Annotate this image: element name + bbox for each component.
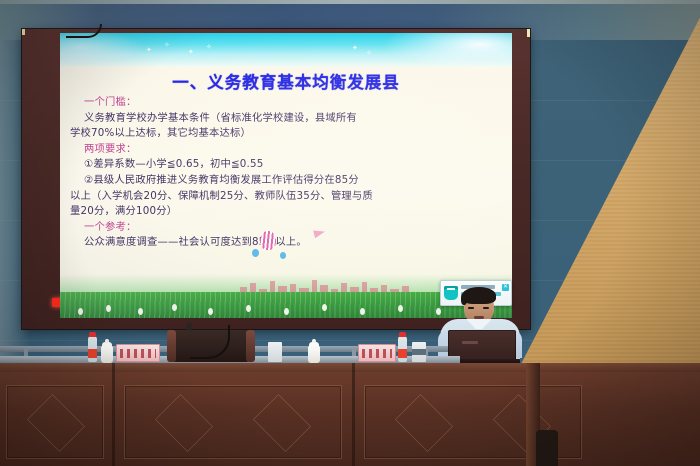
nameplate bbox=[358, 344, 396, 362]
bird-icon: ✧ bbox=[366, 50, 372, 57]
slide-line: 义务教育学校办学基本条件（省标准化学校建设，县域所有 bbox=[70, 111, 504, 127]
tea-cup bbox=[308, 346, 320, 363]
desk-diamond-inlay bbox=[27, 394, 85, 452]
slide-body: 一个门槛： 义务教育学校办学基本条件（省标准化学校建设，县域所有 学校70%以上… bbox=[70, 95, 504, 251]
slide-line: ②县级人民政府推进义务教育均衡发展工作评估得分在85分 bbox=[70, 173, 504, 189]
flower-icon bbox=[246, 305, 251, 312]
chair-arm bbox=[167, 330, 176, 362]
desk-panel bbox=[124, 385, 342, 459]
desk-panel bbox=[6, 385, 104, 459]
flower-icon bbox=[106, 305, 111, 312]
bird-icon: ✦ bbox=[188, 49, 194, 56]
bottle-label bbox=[398, 349, 407, 358]
flower-icon bbox=[398, 305, 403, 312]
nameplate bbox=[116, 344, 160, 362]
cup-knob bbox=[105, 339, 109, 343]
bird-icon: ✧ bbox=[206, 44, 212, 51]
bottle-cap bbox=[89, 332, 96, 337]
tissue-box bbox=[268, 342, 282, 362]
bottle-cap bbox=[399, 332, 406, 337]
microphone-head bbox=[186, 322, 192, 331]
hot-air-balloon-small-icon bbox=[252, 249, 259, 257]
water-bottle bbox=[398, 336, 407, 362]
nameplate-text bbox=[362, 349, 392, 358]
flower-icon bbox=[208, 308, 213, 315]
slide-lead: 一个门槛： bbox=[70, 95, 504, 111]
desk-diamond-inlay bbox=[253, 394, 311, 452]
bird-icon: ✦ bbox=[352, 45, 358, 52]
slide-title: 一、义务教育基本均衡发展县 bbox=[60, 69, 512, 93]
front-desk bbox=[0, 363, 700, 466]
desk-divider bbox=[112, 363, 115, 466]
flower-icon bbox=[78, 308, 83, 315]
presenter-hair bbox=[462, 287, 496, 304]
presenter-eye bbox=[483, 307, 489, 309]
slide-line: ①差异系数—小学≦0.65，初中≦0.55 bbox=[70, 157, 504, 173]
nameplate-text bbox=[120, 349, 156, 358]
slide-line: 以上（入学机会20分、保障机制25分、教师队伍35分、管理与质 bbox=[70, 189, 504, 205]
slide-line: 学校70%以上达标，其它均基本达标） bbox=[70, 126, 504, 142]
presenter-eye bbox=[468, 307, 474, 309]
desk-front bbox=[0, 372, 700, 466]
flower-icon bbox=[360, 308, 365, 315]
chair-arm bbox=[246, 330, 255, 362]
bird-icon: ✧ bbox=[164, 42, 170, 49]
tissue-box bbox=[412, 342, 426, 362]
hot-air-balloon-icon bbox=[260, 231, 276, 250]
hot-air-balloon-small-icon bbox=[280, 252, 286, 259]
flower-icon bbox=[284, 308, 289, 315]
slide-line: 公众满意度调查——社会认可度达到85%以上。 bbox=[70, 235, 504, 251]
tea-cup bbox=[101, 346, 113, 363]
bird-icon: ✦ bbox=[146, 47, 152, 54]
frame-highlight-left bbox=[22, 29, 25, 35]
bottle-label bbox=[88, 349, 97, 358]
tissue-box-band bbox=[412, 349, 426, 355]
desk-diamond-inlay bbox=[395, 394, 453, 452]
sky-glow-right bbox=[382, 33, 512, 71]
frame-highlight-right bbox=[527, 29, 530, 37]
laptop-logo bbox=[462, 341, 478, 344]
desk-diamond-inlay bbox=[155, 394, 213, 452]
presentation-slide: ✦ ✧ ✦ ✧ ✦ ✧ 一、义务教育基本均衡发展县 一个门槛： 义务教育学校办学… bbox=[60, 33, 512, 318]
floor-object bbox=[536, 430, 558, 466]
conference-hall-photo: ✦ ✧ ✦ ✧ ✦ ✧ 一、义务教育基本均衡发展县 一个门槛： 义务教育学校办学… bbox=[0, 0, 700, 466]
water-bottle bbox=[88, 336, 97, 362]
flower-icon bbox=[138, 308, 143, 315]
desk-divider bbox=[352, 363, 355, 466]
slide-line: 量20分，满分100分） bbox=[70, 204, 504, 220]
cup-knob bbox=[312, 339, 316, 343]
slide-lead: 两项要求： bbox=[70, 142, 504, 158]
flower-icon bbox=[172, 304, 177, 311]
flower-icon bbox=[322, 304, 327, 311]
slide-lead: 一个参考： bbox=[70, 220, 504, 236]
